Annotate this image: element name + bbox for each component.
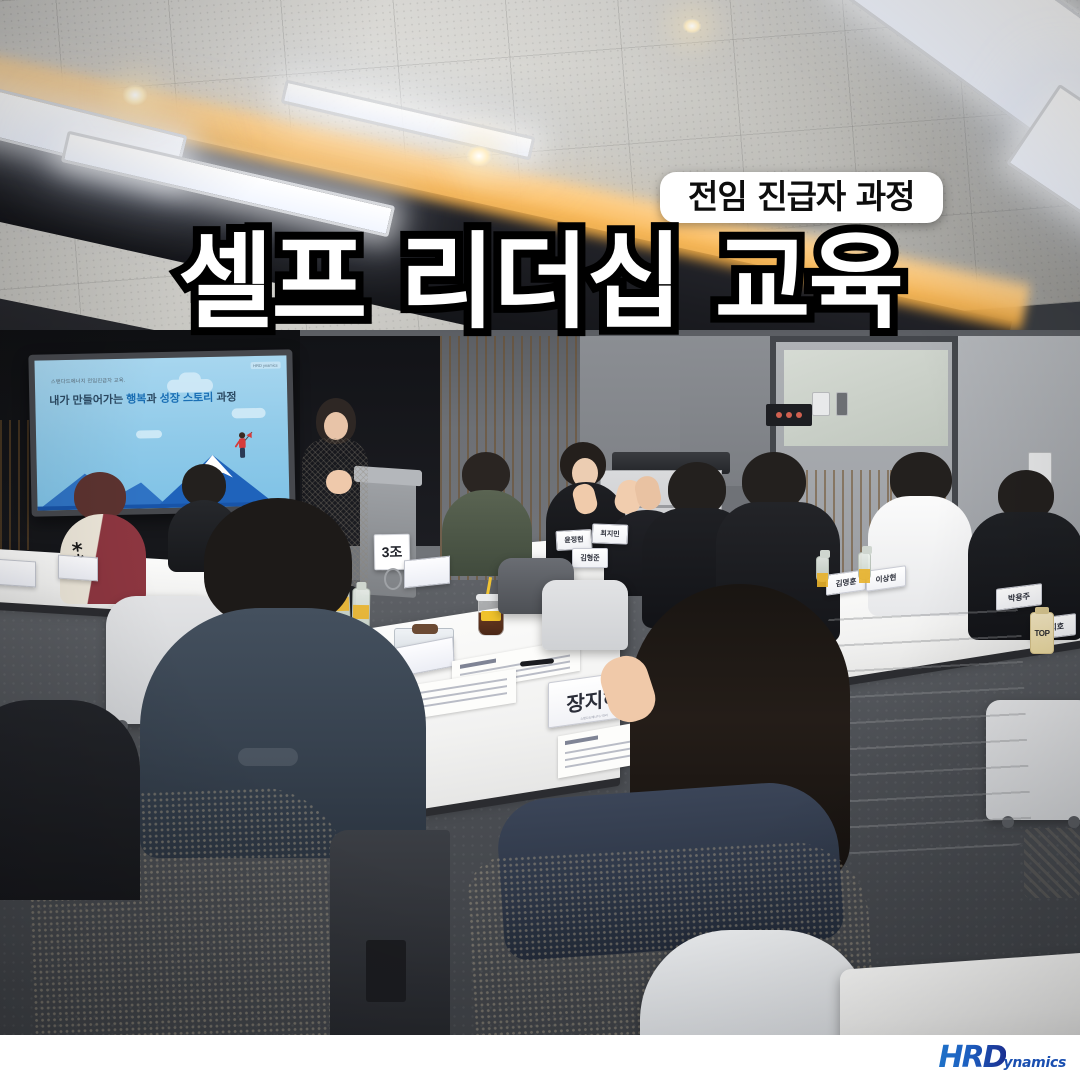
chair-back-dark (330, 830, 450, 1035)
name-tag-name: 이상현 (876, 572, 897, 586)
instructor-clapping-hands (326, 470, 352, 494)
logo-secondary-text: ynamics (1004, 1056, 1066, 1073)
slide-title-lead: 내가 만들어가는 (49, 394, 126, 408)
course-badge-label: 전임 진급자 과정 (688, 180, 915, 213)
name-tag-card: 최지민 (592, 523, 629, 544)
name-tag-name: 최지민 (600, 529, 620, 540)
name-tag-name: 김명훈 (836, 576, 857, 590)
ceiling-downlight (466, 145, 492, 167)
participant-foreground-far-left (0, 700, 140, 900)
name-tent-card (58, 555, 98, 582)
slide-climber-figure (232, 430, 255, 468)
logo-primary-text: HRD (938, 1043, 1005, 1073)
name-tag-name: 윤정현 (564, 535, 584, 546)
slide-kicker-text: 스탠다드에너지 전임진급자 교육. (51, 377, 126, 386)
wall-speaker (836, 392, 848, 416)
bottle-label (859, 569, 870, 583)
participant-mid-left (446, 452, 526, 562)
sign-dot-icon (776, 412, 782, 418)
ceiling-downlight (122, 84, 148, 106)
name-tag-card: 김형준 (572, 548, 608, 568)
door-sign (766, 404, 812, 426)
chair-label-tag (366, 940, 406, 1002)
name-tent-card (0, 559, 36, 588)
name-tag-name: 김형준 (580, 553, 599, 563)
chair-caster (1068, 816, 1080, 828)
poster-headline: 셀프 리더십 교육 (0, 228, 1080, 337)
sign-dot-icon (786, 412, 792, 418)
instructor-face (324, 412, 348, 440)
slide-cloud (136, 430, 162, 439)
participant-top-crease (238, 748, 298, 766)
wall-switch-plate[interactable] (812, 392, 830, 416)
slide-title-highlight-2: 성장 스토리 (160, 392, 214, 405)
ceiling-downlight (682, 18, 702, 34)
door-glass-pane (784, 350, 948, 446)
participant-head (204, 498, 352, 626)
coffee-can-label: TOP (1034, 629, 1049, 638)
course-badge: 전임 진급자 과정 (660, 172, 943, 223)
sign-dot-icon (796, 412, 802, 418)
worksheet-heading-bar (565, 735, 598, 745)
slide-brand-mark: HRD ynamics (250, 362, 281, 370)
handbag (1024, 828, 1080, 898)
can-cap (1035, 607, 1049, 614)
slide-cloud (232, 408, 266, 419)
slide-title-mid: 과 (146, 393, 159, 405)
participant-head (74, 472, 126, 520)
coffee-can: TOP (1030, 612, 1054, 654)
footer-bar: HRD ynamics (0, 1035, 1080, 1080)
hrdynamics-logo: HRD ynamics (938, 1043, 1066, 1073)
cup-label-band (481, 611, 501, 621)
bottle-label (817, 573, 828, 587)
participant-foreground-left (150, 498, 420, 828)
water-bottle (816, 556, 829, 582)
worksheet-heading-bar (460, 659, 496, 669)
poster-canvas: HRD ynamics 스탠다드에너지 전임진급자 교육. 내가 만들어가는 행… (0, 0, 1080, 1080)
slide-title-highlight-1: 행복 (126, 393, 146, 405)
water-bottle (858, 552, 871, 580)
seminar-photo: HRD ynamics 스탠다드에너지 전임진급자 교육. 내가 만들어가는 행… (0, 0, 1080, 1035)
slide-title-tail: 과정 (213, 391, 237, 403)
slide-title: 내가 만들어가는 행복과 성장 스토리 과정 (49, 388, 237, 408)
